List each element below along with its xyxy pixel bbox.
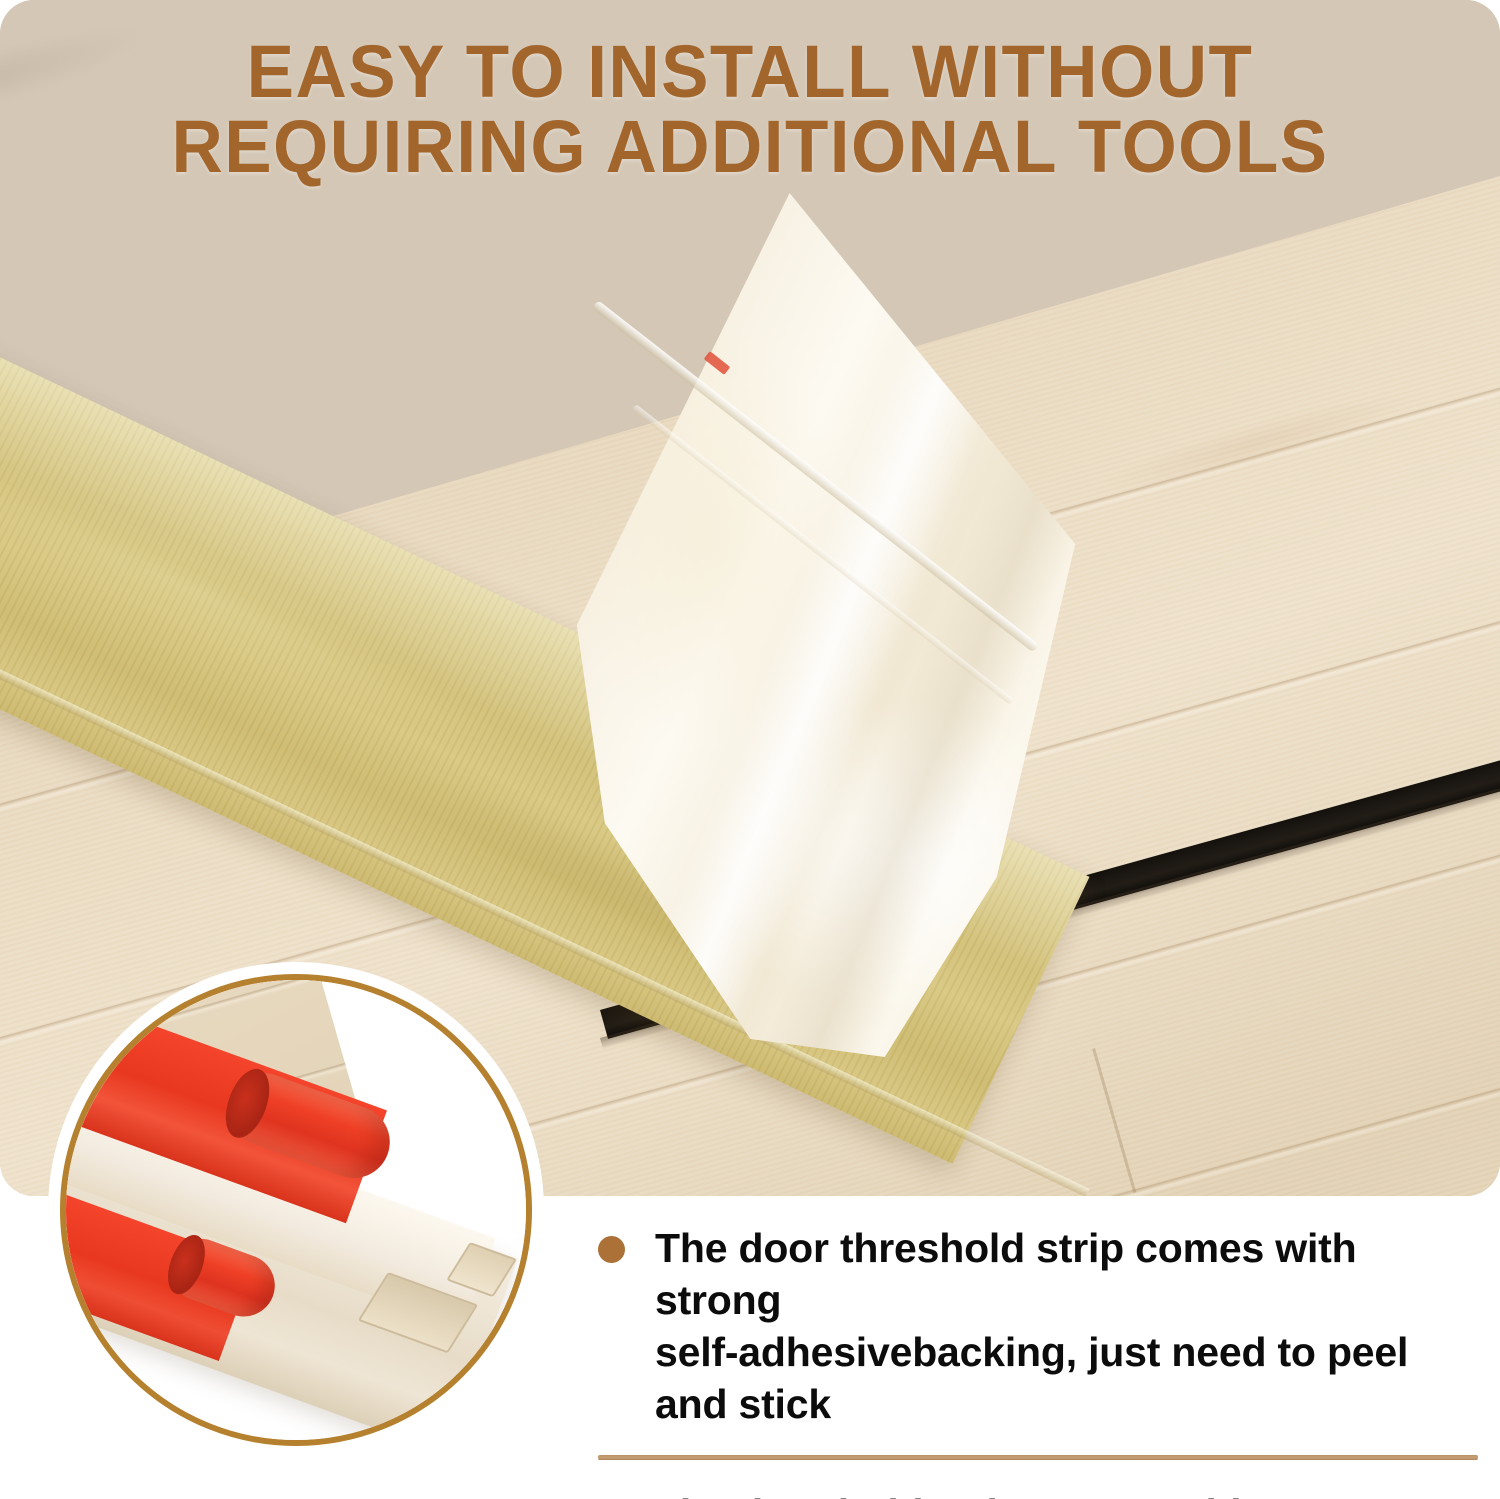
inset-photo xyxy=(66,980,526,1440)
bullet-dot-icon xyxy=(598,1236,625,1263)
headline-line-1: EASY TO INSTALL WITHOUT xyxy=(30,34,1470,109)
bullet-divider xyxy=(598,1455,1478,1460)
bullet-text-2: The threshold strip comes with an extra … xyxy=(655,1488,1478,1499)
headline: EASY TO INSTALL WITHOUT REQUIRING ADDITI… xyxy=(0,34,1500,185)
bullet-text-1: The door threshold strip comes with stro… xyxy=(655,1222,1478,1430)
detail-inset xyxy=(48,962,544,1458)
bullet-1-line-1: The door threshold strip comes with stro… xyxy=(655,1222,1478,1326)
inset-gold-ring xyxy=(60,974,532,1446)
product-feature-image: EASY TO INSTALL WITHOUT REQUIRING ADDITI… xyxy=(0,0,1500,1499)
bullet-2-line-1: The threshold strip comes with an extra … xyxy=(655,1488,1478,1499)
bullet-item-2: The threshold strip comes with an extra … xyxy=(598,1488,1478,1499)
feature-bullet-list: The door threshold strip comes with stro… xyxy=(598,1222,1478,1499)
bullet-item-1: The door threshold strip comes with stro… xyxy=(598,1222,1478,1430)
bullet-1-line-2: self-adhesivebacking, just need to peel … xyxy=(655,1326,1478,1430)
headline-line-2: REQUIRING ADDITIONAL TOOLS xyxy=(30,109,1470,184)
